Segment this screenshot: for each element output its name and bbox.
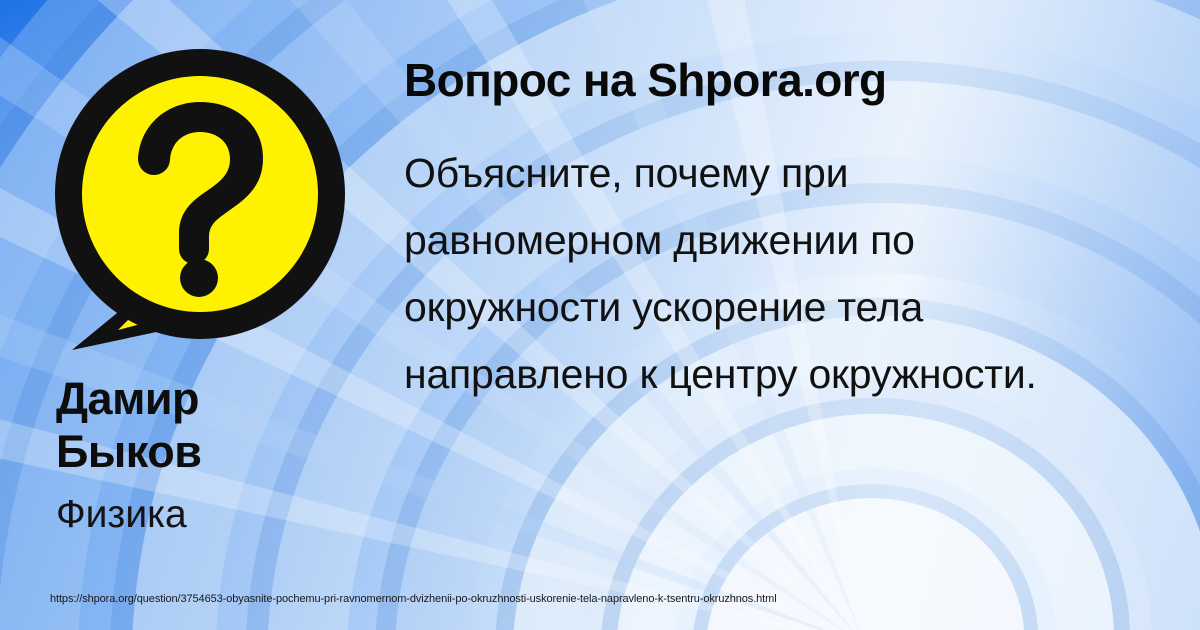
author-block: Дамир Быков Физика xyxy=(56,372,386,538)
question-share-card: Дамир Быков Физика Вопрос на Shpora.org … xyxy=(0,0,1200,630)
subject-label: Физика xyxy=(56,492,386,538)
page-title: Вопрос на Shpora.org xyxy=(404,52,1104,108)
question-body: Объясните, почему при равномерном движен… xyxy=(404,140,1104,408)
source-url[interactable]: https://shpora.org/question/3754653-obya… xyxy=(50,592,777,606)
author-name: Дамир Быков xyxy=(56,372,386,478)
question-speech-bubble-icon xyxy=(44,48,364,358)
content-column: Вопрос на Shpora.org Объясните, почему п… xyxy=(404,52,1104,408)
question-bubble xyxy=(44,48,364,358)
